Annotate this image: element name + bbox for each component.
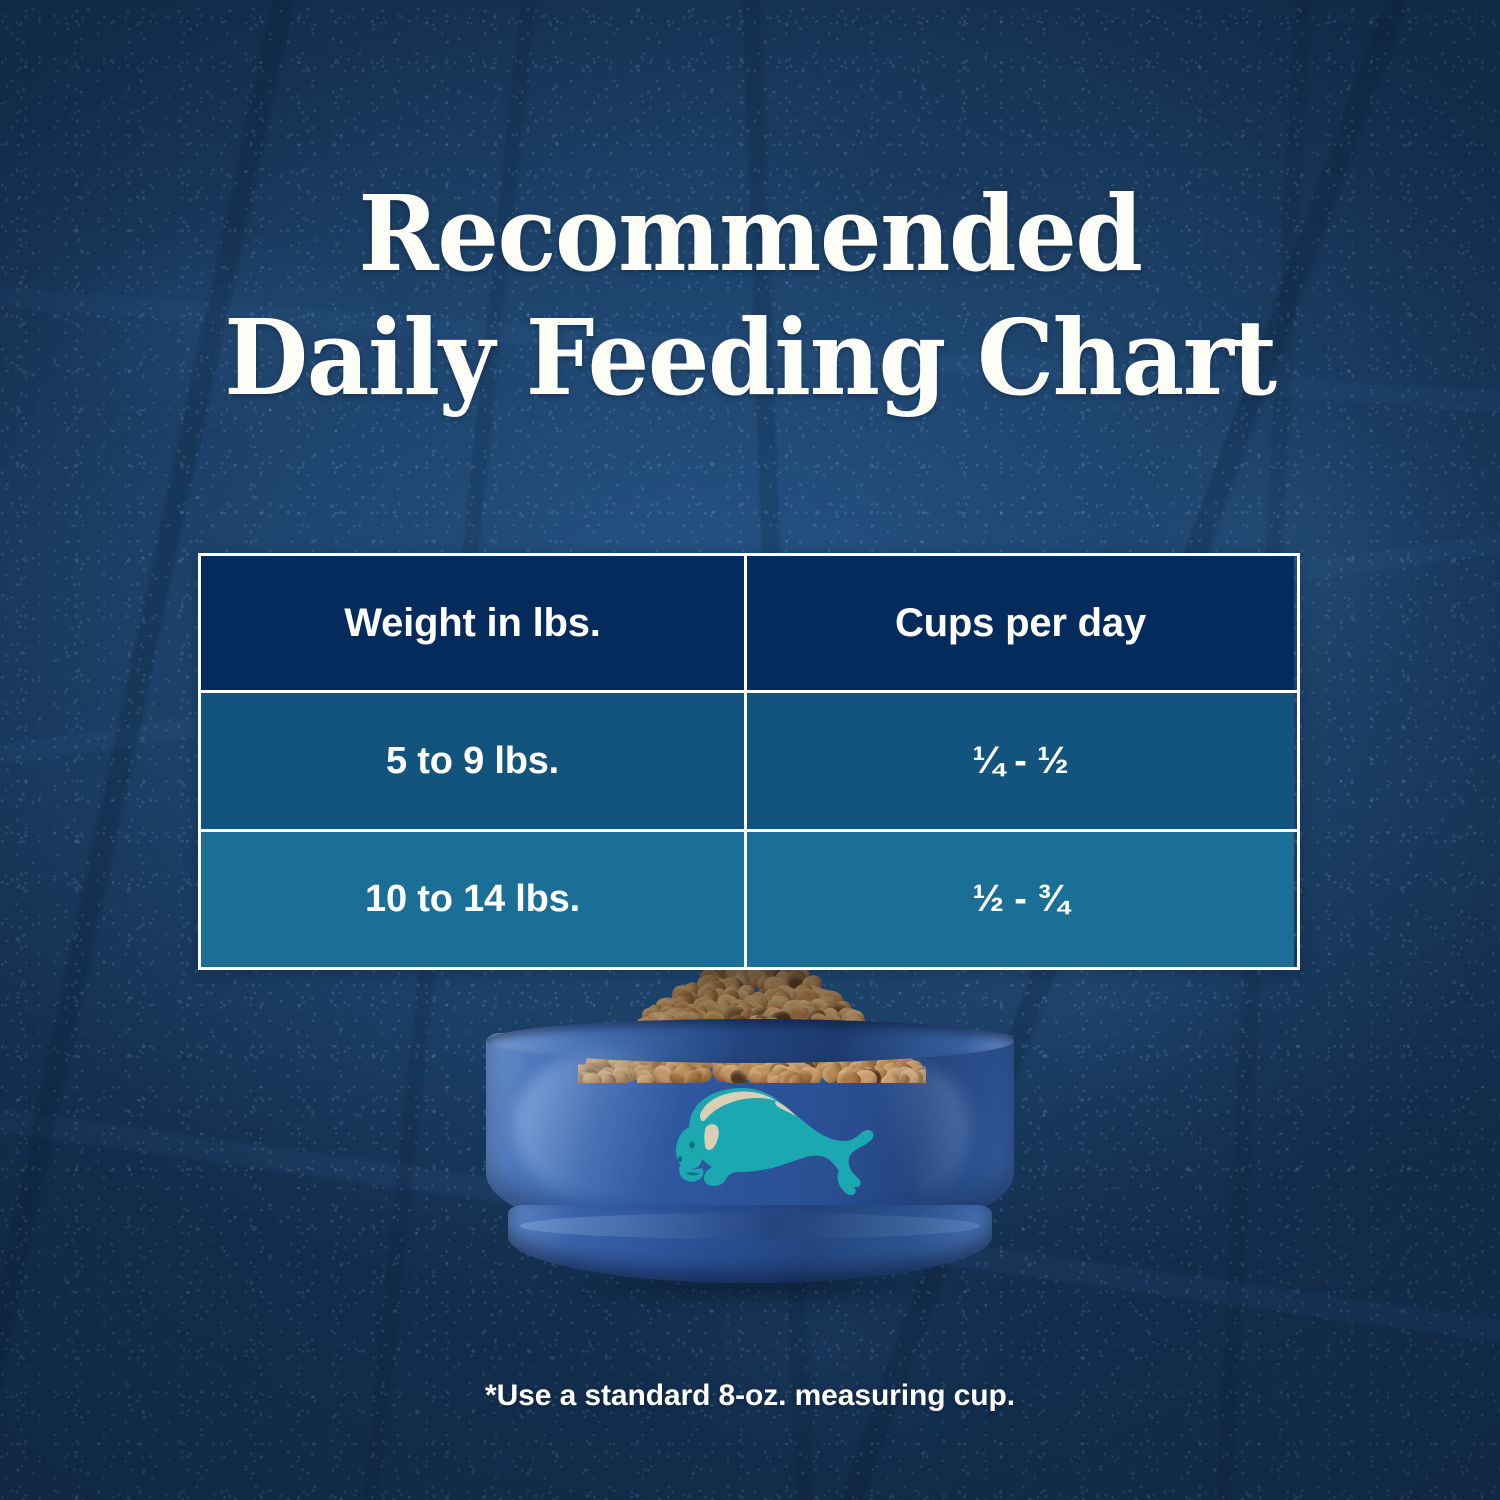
column-header-cups: Cups per day — [744, 556, 1294, 690]
feeding-chart-page: Recommended Daily Feeding Chart Weight i… — [0, 0, 1500, 1500]
page-title-line-1: Recommended — [53, 172, 1448, 296]
bowl-base-groove — [520, 1213, 980, 1239]
cell-weight-range-1: 5 to 9 lbs. — [201, 693, 744, 829]
cell-cups-per-day-2: ½ - ¾ — [744, 832, 1294, 967]
footnote-text: *Use a standard 8-oz. measuring cup. — [0, 1379, 1500, 1413]
table-header-row: Weight in lbs. Cups per day — [201, 556, 1297, 690]
cell-cups-per-day-1: ¼ - ½ — [744, 693, 1294, 829]
table-row: 5 to 9 lbs. ¼ - ½ — [201, 690, 1297, 829]
cell-weight-range-2: 10 to 14 lbs. — [201, 832, 744, 967]
bison-icon — [656, 1075, 884, 1215]
feeding-table: Weight in lbs. Cups per day 5 to 9 lbs. … — [198, 553, 1300, 970]
column-header-weight: Weight in lbs. — [201, 556, 744, 690]
table-row: 10 to 14 lbs. ½ - ¾ — [201, 829, 1297, 967]
page-title-line-2: Daily Feeding Chart — [53, 296, 1448, 420]
dog-food-bowl-image — [460, 955, 1040, 1305]
page-title: Recommended Daily Feeding Chart — [0, 172, 1500, 420]
bowl-rim — [486, 1019, 1014, 1063]
